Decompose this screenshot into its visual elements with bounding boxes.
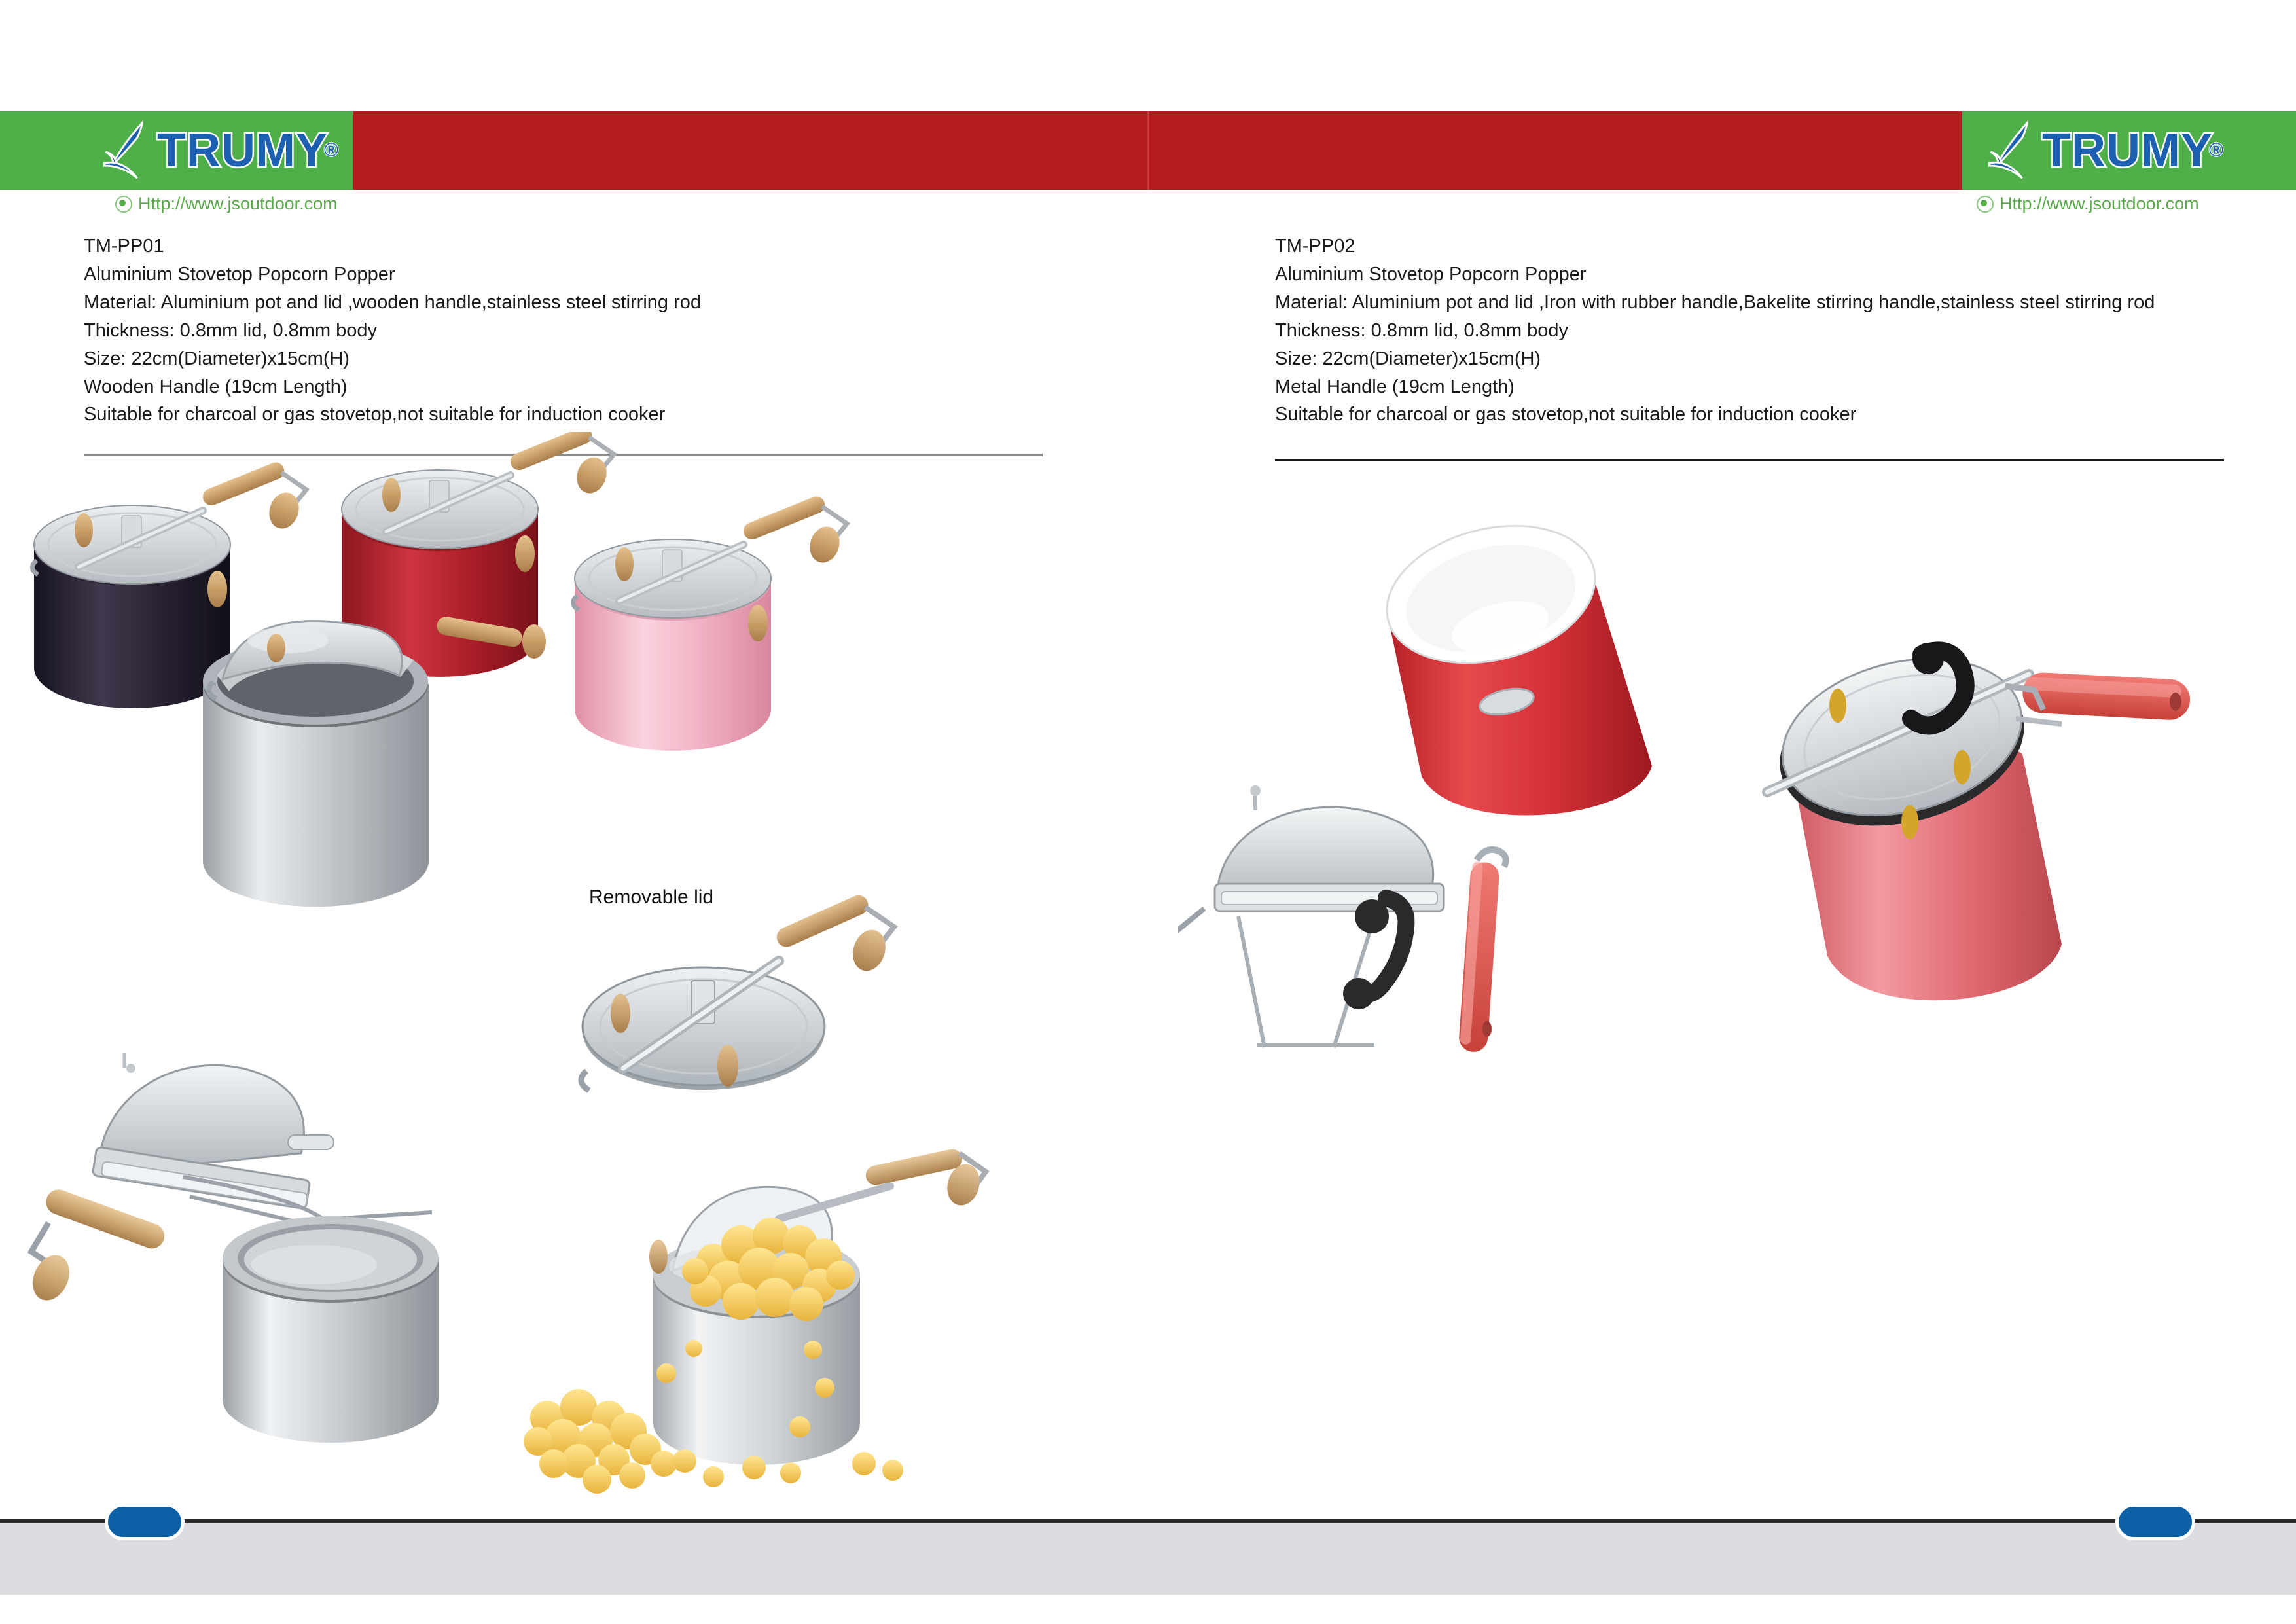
popper-aluminium-open	[203, 621, 429, 907]
bird-logo-icon	[1983, 119, 2046, 182]
product-code: TM-PP01	[84, 232, 1144, 261]
brand-url-left[interactable]: Http://www.jsoutdoor.com	[115, 194, 338, 214]
brand-url-right[interactable]: Http://www.jsoutdoor.com	[1977, 194, 2199, 214]
product-photo-lid-and-pot	[26, 969, 550, 1466]
registered-mark-icon: ®	[324, 141, 339, 160]
brand-wordmark: TRUMY	[157, 127, 328, 174]
brand-logo-left: TRUMY ®	[98, 117, 339, 185]
product-block-tm-pp02: TM-PP02 Aluminium Stovetop Popcorn Poppe…	[1275, 232, 2296, 461]
footer-tab-right[interactable]	[2115, 1504, 2195, 1540]
product-photo-popper-with-popcorn	[497, 1100, 1021, 1519]
product-handle: Metal Handle (19cm Length)	[1275, 373, 2296, 401]
product-size: Size: 22cm(Diameter)x15cm(H)	[84, 345, 1144, 373]
header-center-seam	[1147, 111, 1149, 190]
product-material: Material: Aluminium pot and lid ,Iron wi…	[1275, 289, 2296, 317]
product-thickness: Thickness: 0.8mm lid, 0.8mm body	[84, 317, 1144, 345]
brand-url-text: Http://www.jsoutdoor.com	[2000, 194, 2199, 214]
product-title: Aluminium Stovetop Popcorn Popper	[84, 261, 1144, 289]
product-gallery-tm-pp01: Removable lid	[0, 432, 1152, 1519]
page-header: TRUMY ® TRUMY ®	[0, 111, 2296, 190]
footer-band	[0, 1523, 2296, 1595]
popper-pink	[573, 494, 847, 751]
product-suitability: Suitable for charcoal or gas stovetop,no…	[84, 401, 1144, 429]
product-thickness: Thickness: 0.8mm lid, 0.8mm body	[1275, 317, 2296, 345]
brand-wordmark: TRUMY	[2042, 127, 2213, 174]
red-pot-open	[1372, 505, 1652, 816]
product-suitability: Suitable for charcoal or gas stovetop,no…	[1275, 401, 2296, 429]
product-gallery-tm-pp02	[1178, 458, 2291, 1113]
registered-mark-icon: ®	[2209, 141, 2224, 160]
bird-logo-icon	[98, 119, 161, 182]
product-handle: Wooden Handle (19cm Length)	[84, 373, 1144, 401]
product-material: Material: Aluminium pot and lid ,wooden …	[84, 289, 1144, 317]
product-photo-metal-handle-set	[1178, 458, 2291, 1113]
lid-assembly-bakelite	[1178, 785, 1444, 1047]
detached-metal-handle	[1458, 850, 1506, 1053]
product-photo-removable-lid	[563, 890, 929, 1126]
product-block-tm-pp01: TM-PP01 Aluminium Stovetop Popcorn Poppe…	[84, 232, 1144, 456]
brand-logo-right: TRUMY ®	[1983, 117, 2224, 185]
brand-url-text: Http://www.jsoutdoor.com	[138, 194, 338, 214]
circle-bullet-icon	[1977, 196, 1994, 213]
product-code: TM-PP02	[1275, 232, 2296, 261]
footer-tab-left[interactable]	[105, 1504, 185, 1540]
product-title: Aluminium Stovetop Popcorn Popper	[1275, 261, 2296, 289]
product-size: Size: 22cm(Diameter)x15cm(H)	[1275, 345, 2296, 373]
circle-bullet-icon	[115, 196, 132, 213]
product-photo-popper-color-group	[7, 432, 988, 943]
red-popper-assembled	[1763, 635, 2191, 1000]
